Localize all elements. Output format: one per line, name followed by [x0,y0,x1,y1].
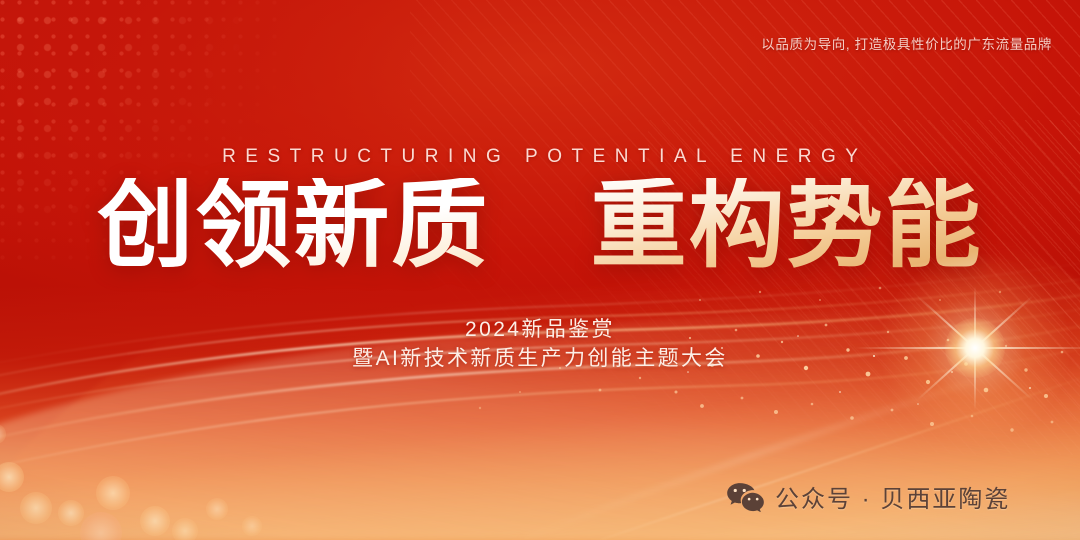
subtitle-line-one: 2024新品鉴赏 [0,316,1080,345]
wechat-icon [726,482,764,512]
poster-banner: 以品质为导向, 打造极具性价比的广东流量品牌 RESTRUCTURING POT… [0,0,1080,540]
wechat-account[interactable]: 公众号 · 贝西亚陶瓷 [726,479,1010,514]
subtitle-block: 2024新品鉴赏 暨AI新技术新质生产力创能主题大会 [0,316,1080,374]
english-eyebrow-text: RESTRUCTURING POTENTIAL ENERGY [0,146,1080,168]
subtitle-line-two: 暨AI新技术新质生产力创能主题大会 [0,345,1080,374]
headline: 创领新质 重构势能 [0,178,1080,274]
headline-part-two: 重构势能 [591,172,983,279]
wechat-account-label: 公众号 · 贝西亚陶瓷 [775,479,1010,514]
tagline-text: 以品质为导向, 打造极具性价比的广东流量品牌 [761,33,1052,53]
headline-part-one: 创领新质 [97,172,489,279]
